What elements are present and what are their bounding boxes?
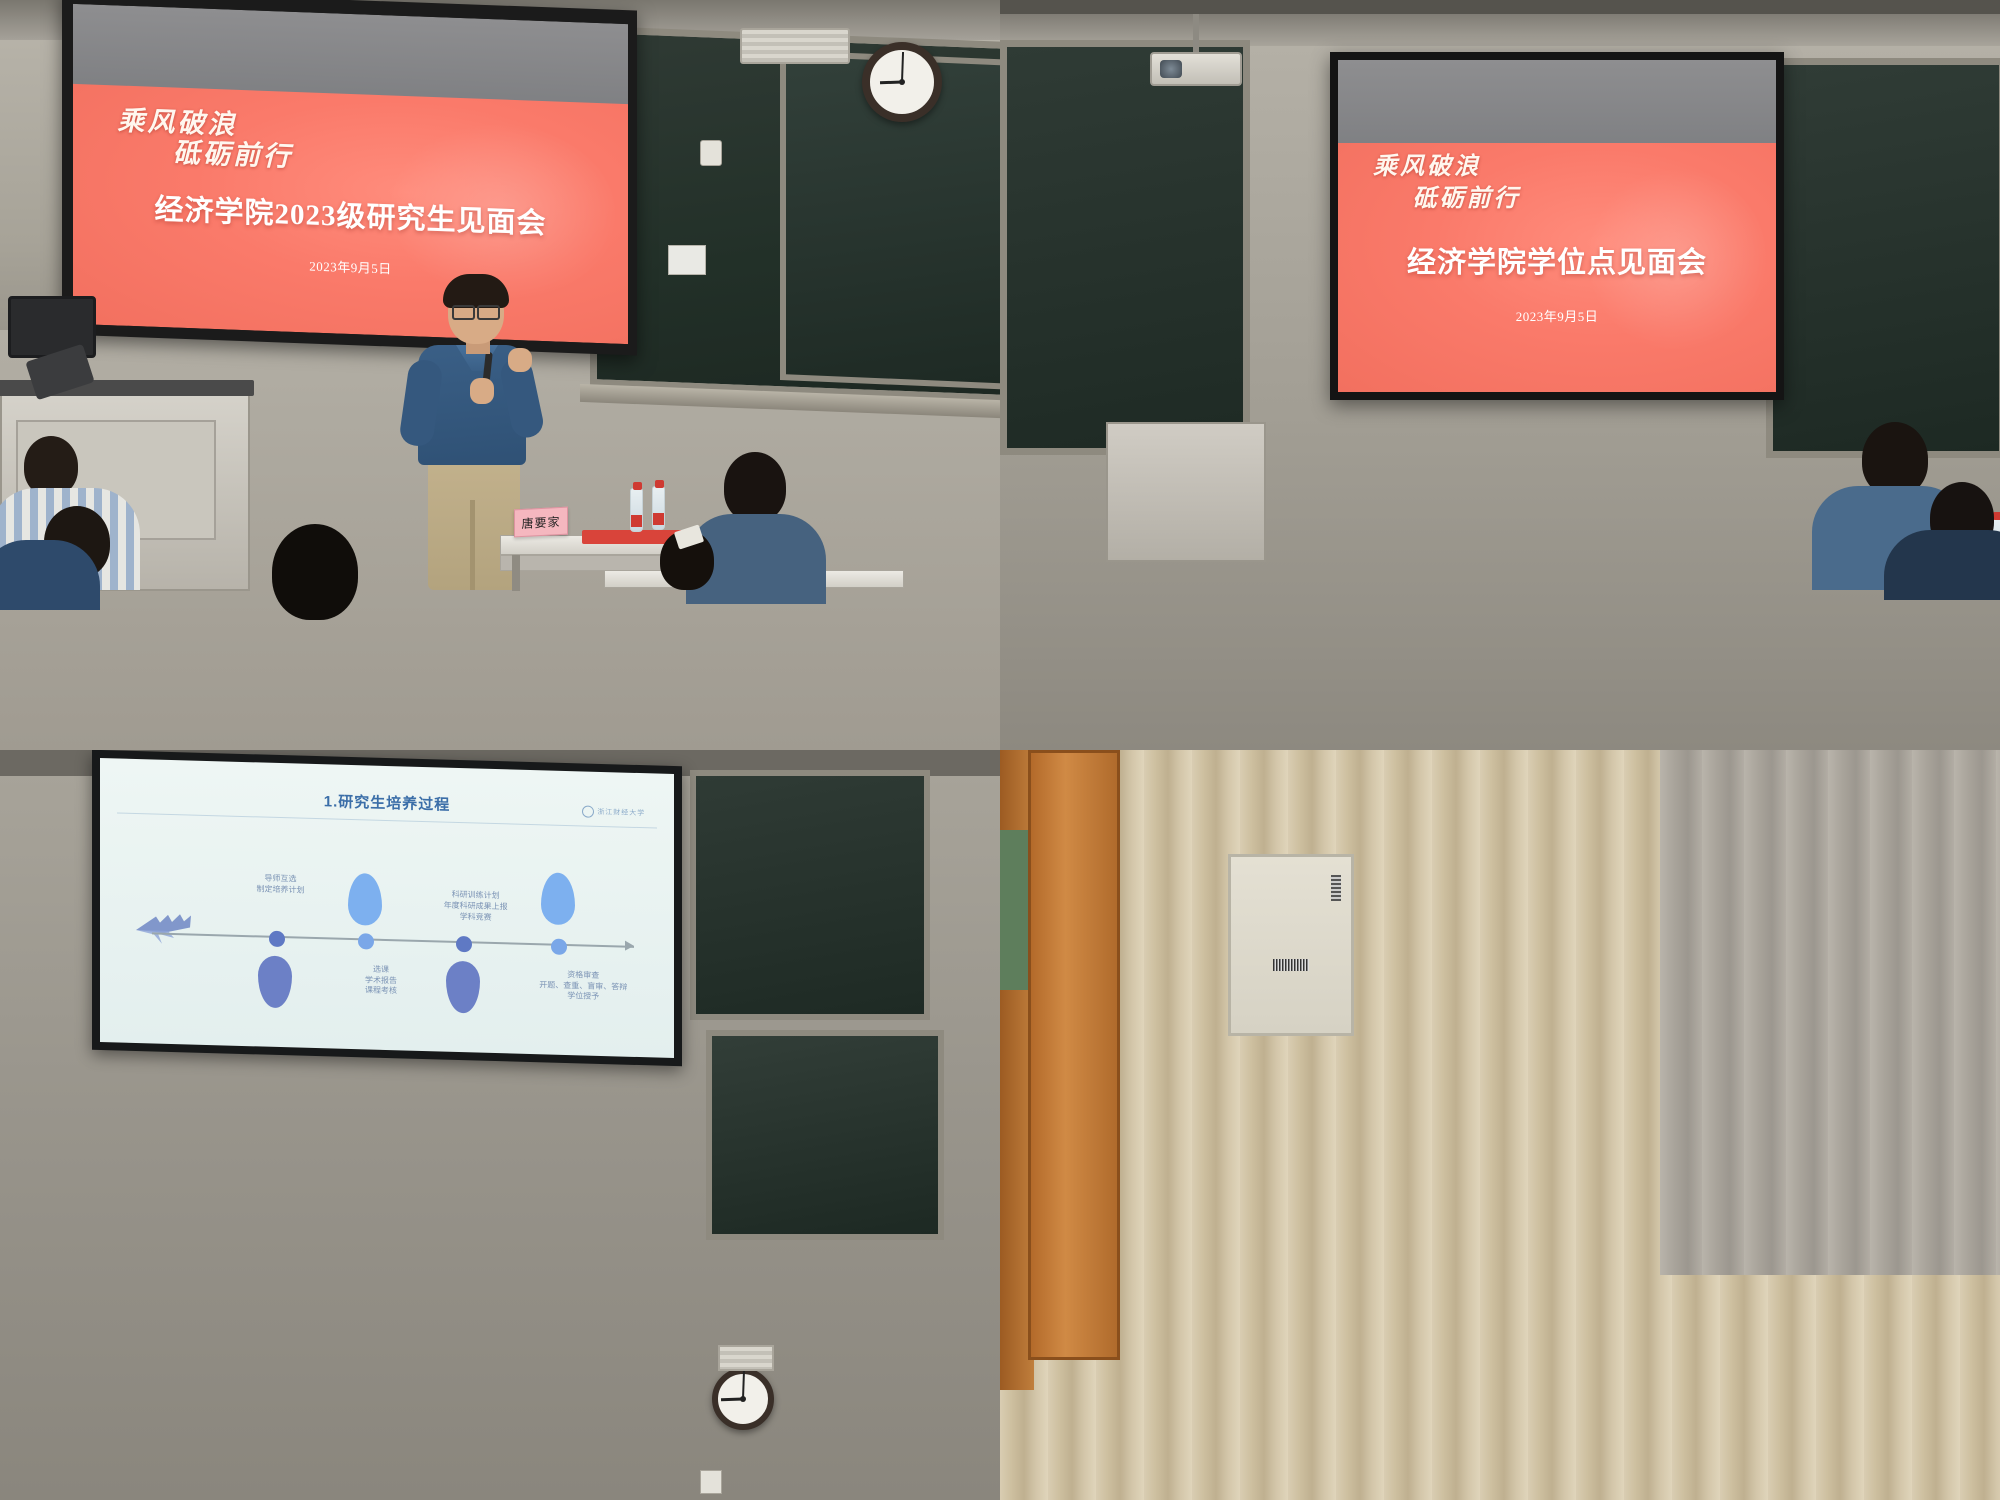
slide-header-band: [1338, 60, 1776, 146]
curtain-grey-right: [1660, 750, 2000, 1275]
university-logo: 浙江财经大学: [582, 806, 645, 820]
panel-bottom-right: [1000, 750, 2000, 1500]
timeline-label-2: 选课学术报告课程考核: [321, 963, 441, 999]
projection-screen-top-left: 乘风破浪 砥砺前行 经济学院2023级研究生见面会 2023年9月5日: [73, 4, 628, 344]
wall-clock-icon: [862, 42, 942, 122]
wooden-door[interactable]: [1028, 750, 1120, 1360]
timeline-arrowhead-icon: [625, 941, 634, 951]
air-vent: [718, 1345, 774, 1371]
timeline-label-3: 科研训练计划年度科研成果上报学科竞赛: [416, 889, 536, 925]
slide-title: 经济学院学位点见面会: [1338, 239, 1776, 281]
panel-switch-icon: [1331, 875, 1341, 901]
water-bottle: [630, 488, 643, 532]
slide-slogan-line1: 乘风破浪: [1373, 146, 1481, 181]
light-switch[interactable]: [700, 1470, 722, 1494]
timeline-dot-1: [269, 930, 285, 946]
slide-slogan-line2: 砥砺前行: [173, 131, 293, 174]
timeline-dot-4: [551, 938, 567, 954]
timeline-pin-3: [446, 961, 480, 1014]
timeline-dot-2: [358, 933, 374, 949]
projector-lens-icon: [1160, 60, 1182, 78]
projection-screen-bottom-left: 1.研究生培养过程 浙江财经大学 导师互选制定培养计划 选课学术报告课程考核 科…: [100, 758, 674, 1058]
slide-slogan-line2: 砥砺前行: [1412, 178, 1520, 213]
air-conditioner-vent: [740, 28, 850, 64]
speaker-right-hand: [508, 348, 532, 372]
speaker-hair: [443, 274, 509, 308]
blackboard-right-lower: [706, 1030, 944, 1240]
panel-top-left: 乘风破浪 砥砺前行 经济学院2023级研究生见面会 2023年9月5日: [0, 0, 1000, 750]
timeline-dot-3: [456, 935, 472, 951]
name-card: 唐要家: [514, 507, 568, 538]
panel-top-right: 乘风破浪 砥砺前行 经济学院学位点见面会 2023年9月5日: [1000, 0, 2000, 750]
logo-mark-icon: [582, 806, 594, 818]
timeline-pin-4: [541, 873, 575, 926]
timeline-label-4: 资格审查开题、查重、盲审、答辩学位授予: [513, 968, 653, 1004]
timeline-pin-1: [258, 956, 292, 1009]
speaker-leg-split: [470, 500, 475, 590]
audience-head: [1862, 422, 1928, 496]
audience-head: [24, 436, 78, 496]
blackboard-right: [1766, 58, 2000, 458]
lectern: [1106, 422, 1266, 562]
glasses-icon: [452, 305, 500, 316]
audience-head: [724, 452, 786, 522]
audience-head: [272, 524, 358, 620]
wall-clock-icon: [712, 1368, 774, 1430]
panel-bottom-left: 1.研究生培养过程 浙江财经大学 导师互选制定培养计划 选课学术报告课程考核 科…: [0, 750, 1000, 1500]
ceiling-beam: [1000, 0, 2000, 14]
timeline-label-1: 导师互选制定培养计划: [221, 872, 341, 897]
audience-shoulders: [1884, 530, 2000, 600]
electrical-panel-box: [1228, 854, 1354, 1036]
projection-screen-top-right: 乘风破浪 砥砺前行 经济学院学位点见面会 2023年9月5日: [1338, 60, 1776, 392]
blackboard-left: [1000, 40, 1250, 455]
blackboard-right: [690, 770, 930, 1020]
slide-date: 2023年9月5日: [1338, 306, 1776, 325]
desk-leg: [512, 555, 520, 591]
door-window: [1000, 830, 1030, 990]
wall-poster: [668, 245, 706, 275]
photo-collage: 乘风破浪 砥砺前行 经济学院2023级研究生见面会 2023年9月5日: [0, 0, 2000, 1500]
panel-label-icon: [1273, 959, 1309, 971]
water-bottle: [652, 486, 665, 530]
speaker-left-hand: [470, 378, 494, 404]
arrow-feather-icon: [134, 909, 192, 945]
light-switch[interactable]: [700, 140, 722, 166]
logo-text: 浙江财经大学: [597, 807, 645, 818]
projector-mount-rod: [1193, 14, 1199, 54]
timeline-pin-2: [348, 873, 382, 926]
